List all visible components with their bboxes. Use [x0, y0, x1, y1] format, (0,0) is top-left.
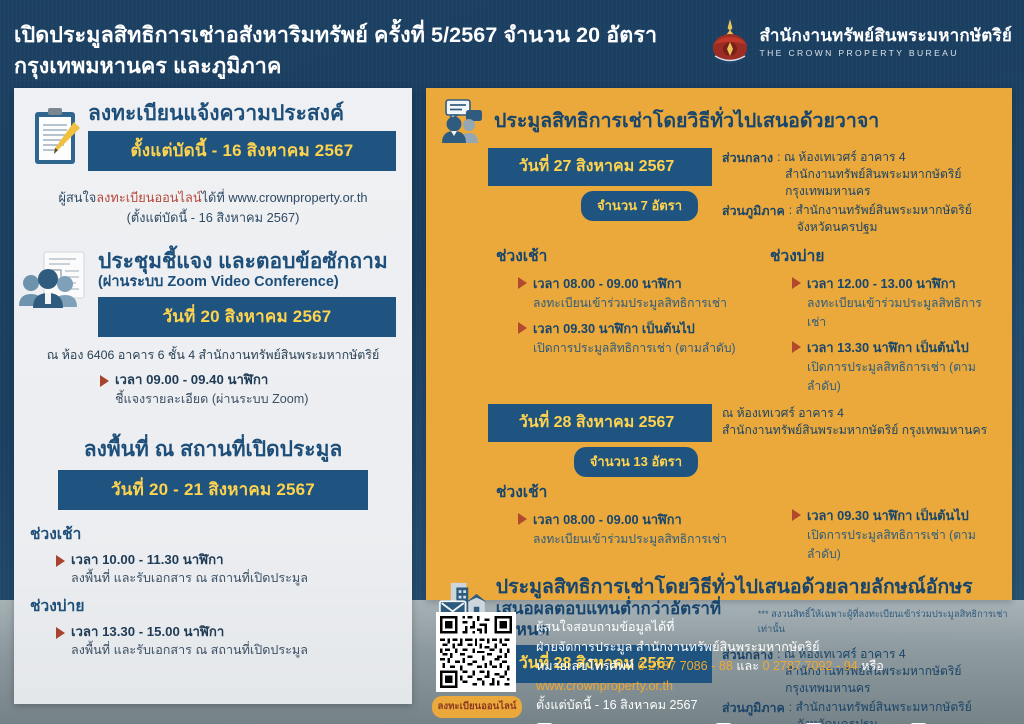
verbal-day1-times: ช่วงเช้า เวลา 08.00 - 09.00 นาฬิกา ลงทะเ…	[426, 243, 1012, 396]
verbal-day2-morning-time-1: เวลา 08.00 - 09.00 นาฬิกา	[533, 509, 727, 530]
verbal-day2-morning-bullet-1: เวลา 08.00 - 09.00 นาฬิกา ลงทะเบียนเข้าร…	[518, 509, 754, 549]
logo-thai-name: สำนักงานทรัพย์สินพระมหากษัตริย์	[760, 26, 1012, 45]
footer-phone-label: หมายเลขโทรศัพท์	[536, 659, 634, 673]
registration-online-period: (ตั้งแต่บัดนี้ - 16 สิงหาคม 2567)	[30, 208, 396, 228]
verbal-day1-afternoon-desc-1: ลงทะเบียนเข้าร่วมประมูลสิทธิการเช่า	[807, 294, 998, 332]
briefing-place: ณ ห้อง 6406 อาคาร 6 ชั้น 4 สำนักงานทรัพย…	[30, 346, 396, 365]
chip-accent-bar	[705, 148, 712, 186]
verbal-day1-region-label: ส่วนภูมิภาค	[722, 202, 785, 236]
verbal-day1-morning-time-1: เวลา 08.00 - 09.00 นาฬิกา	[533, 273, 727, 294]
triangle-bullet-icon	[518, 513, 527, 525]
verbal-day1-region-line2: จังหวัดนครปฐม	[797, 219, 972, 236]
left-schedule-card: ลงทะเบียนแจ้งความประสงค์ ตั้งแต่บัดนี้ -…	[14, 88, 412, 704]
site-visit-morning-bullet: เวลา 10.00 - 11.30 นาฬิกา ลงพื้นที่ และร…	[56, 551, 396, 588]
triangle-bullet-icon	[792, 341, 801, 353]
verbal-day2-times: ช่วงเช้า เวลา 08.00 - 09.00 นาฬิกา ลงทะเ…	[426, 477, 1012, 564]
site-visit-morning-desc: ลงพื้นที่ และรับเอกสาร ณ สถานที่เปิดประม…	[71, 569, 308, 587]
footer-phone-line: หมายเลขโทรศัพท์ 0 2787 7086 - 88 และ 0 2…	[536, 657, 1016, 696]
triangle-bullet-icon	[100, 375, 109, 387]
verbal-day2-right-desc-1: เปิดการประมูลสิทธิการเช่า (ตามลำดับ)	[807, 526, 998, 564]
poster-root: เปิดประมูลสิทธิการเช่าอสังหาริมทรัพย์ คร…	[0, 0, 1024, 724]
footer-line-1: ผู้สนใจสอบถามข้อมูลได้ที่	[536, 618, 1016, 638]
triangle-bullet-icon	[56, 555, 65, 567]
triangle-bullet-icon	[792, 277, 801, 289]
verbal-day1-morning-bullet-2: เวลา 09.30 นาฬิกา เป็นต้นไป เปิดการประมู…	[518, 318, 754, 358]
section-registration: ลงทะเบียนแจ้งความประสงค์ ตั้งแต่บัดนี้ -…	[14, 88, 412, 228]
verbal-day2-date-chip: วันที่ 28 สิงหาคม 2567	[488, 404, 705, 442]
organization-logo: สำนักงานทรัพย์สินพระมหากษัตริย์ THE CROW…	[709, 18, 1012, 66]
footer-line-4: ตั้งแต่บัดนี้ - 16 สิงหาคม 2567	[536, 696, 1016, 716]
footer-phone-2: 0 2787 7092 - 94	[762, 659, 857, 673]
verbal-day1-morning-bullet-1: เวลา 08.00 - 09.00 นาฬิกา ลงทะเบียนเข้าร…	[518, 273, 754, 313]
section-briefing: ประชุมชี้แจง และตอบข้อซักถาม (ผ่านระบบ Z…	[14, 228, 412, 409]
page-title: เปิดประมูลสิทธิการเช่าอสังหาริมทรัพย์ คร…	[14, 20, 714, 81]
briefing-date-chip: วันที่ 20 สิงหาคม 2567	[98, 297, 396, 337]
verbal-day2-location: ณ ห้องเทเวศร์ อาคาร 4 สำนักงานทรัพย์สินพ…	[712, 404, 1012, 477]
block-verbal-auction-header: ประมูลสิทธิการเช่าโดยวิธีทั่วไปเสนอด้วยว…	[426, 88, 1012, 144]
note-suffix: ได้ที่ www.crownproperty.or.th	[202, 190, 368, 205]
footer-line-2: ฝ่ายจัดการประมูล สำนักงานทรัพย์สินพระมหา…	[536, 638, 1016, 658]
verbal-day2-morning-desc-1: ลงทะเบียนเข้าร่วมประมูลสิทธิการเช่า	[533, 530, 727, 549]
triangle-bullet-icon	[792, 509, 801, 521]
section-briefing-subtitle: (ผ่านระบบ Zoom Video Conference)	[98, 274, 396, 291]
chip-accent-bar	[705, 404, 712, 442]
site-visit-afternoon-bullet: เวลา 13.30 - 15.00 นาฬิกา ลงพื้นที่ และร…	[56, 623, 396, 660]
verbal-day1-morning-time-2: เวลา 09.30 นาฬิกา เป็นต้นไป	[533, 318, 736, 339]
block-written-auction-title: ประมูลสิทธิการเช่าโดยวิธีทั่วไปเสนอด้วยล…	[496, 576, 1012, 599]
note-highlight: ลงทะเบียนออนไลน์	[96, 190, 201, 205]
right-auction-panel: ประมูลสิทธิการเช่าโดยวิธีทั่วไปเสนอด้วยว…	[426, 88, 1012, 600]
site-visit-morning-label: ช่วงเช้า	[30, 521, 396, 546]
speech-people-icon	[438, 98, 484, 144]
site-visit-afternoon-time: เวลา 13.30 - 15.00 นาฬิกา	[71, 623, 308, 641]
verbal-day1-afternoon-time-1: เวลา 12.00 - 13.00 นาฬิกา	[807, 273, 998, 294]
logo-english-name: THE CROWN PROPERTY BUREAU	[760, 48, 1012, 58]
triangle-bullet-icon	[56, 627, 65, 639]
verbal-day1-morning-desc-2: เปิดการประมูลสิทธิการเช่า (ตามลำดับ)	[533, 339, 736, 358]
block-verbal-auction-title: ประมูลสิทธิการเช่าโดยวิธีทั่วไปเสนอด้วยว…	[494, 110, 879, 133]
section-site-visit-title: ลงพื้นที่ ณ สถานที่เปิดประมูล	[30, 438, 396, 462]
verbal-day1-morning-desc-1: ลงทะเบียนเข้าร่วมประมูลสิทธิการเช่า	[533, 294, 727, 313]
verbal-day1: วันที่ 27 สิงหาคม 2567 จำนวน 7 อัตรา ส่ว…	[426, 148, 1012, 236]
site-visit-afternoon-label: ช่วงบ่าย	[30, 593, 396, 618]
verbal-day1-afternoon-time-2: เวลา 13.30 นาฬิกา เป็นต้นไป	[807, 337, 998, 358]
verbal-day2-morning-label: ช่วงเช้า	[496, 479, 754, 504]
verbal-day1-afternoon-bullet-2: เวลา 13.30 นาฬิกา เป็นต้นไป เปิดการประมู…	[792, 337, 998, 396]
clipboard-pencil-icon	[30, 106, 82, 168]
verbal-day1-count-pill: จำนวน 7 อัตรา	[581, 191, 698, 221]
poster-header: เปิดประมูลสิทธิการเช่าอสังหาริมทรัพย์ คร…	[0, 0, 1024, 86]
footer-contact-block: ผู้สนใจสอบถามข้อมูลได้ที่ ฝ่ายจัดการประม…	[536, 618, 1016, 724]
poster-footer: ลงทะเบียนออนไลน์ ผู้สนใจสอบถามข้อมูลได้ท…	[426, 604, 1024, 722]
page-title-line1: เปิดประมูลสิทธิการเช่าอสังหาริมทรัพย์ คร…	[14, 23, 657, 47]
triangle-bullet-icon	[518, 322, 527, 334]
qr-code-image	[440, 616, 512, 688]
footer-phone-1: 0 2787 7086 - 88	[638, 659, 733, 673]
briefing-bullet-desc: ชี้แจงรายละเอียด (ผ่านระบบ Zoom)	[115, 390, 308, 408]
verbal-day1-morning-label: ช่วงเช้า	[496, 243, 754, 268]
briefing-bullet-time: เวลา 09.00 - 09.40 นาฬิกา	[115, 371, 308, 389]
verbal-day1-afternoon-label: ช่วงบ่าย	[770, 243, 998, 268]
site-visit-afternoon-desc: ลงพื้นที่ และรับเอกสาร ณ สถานที่เปิดประม…	[71, 641, 308, 659]
verbal-day2-loc-line2: สำนักงานทรัพย์สินพระมหากษัตริย์ กรุงเทพม…	[722, 422, 1012, 439]
people-presentation-icon	[18, 250, 92, 312]
block-verbal-auction: ประมูลสิทธิการเช่าโดยวิธีทั่วไปเสนอด้วยว…	[426, 88, 1012, 564]
section-registration-header: ลงทะเบียนแจ้งความประสงค์ ตั้งแต่บัดนี้ -…	[30, 102, 396, 171]
page-title-line2: กรุงเทพมหานคร และภูมิภาค	[14, 51, 714, 82]
site-visit-morning-time: เวลา 10.00 - 11.30 นาฬิกา	[71, 551, 308, 569]
section-registration-title: ลงทะเบียนแจ้งความประสงค์	[88, 102, 396, 126]
verbal-day1-locations: ส่วนกลาง : ณ ห้องเทเวศร์ อาคาร 4 สำนักงา…	[712, 148, 1012, 236]
verbal-day2-count-pill: จำนวน 13 อัตรา	[574, 447, 698, 477]
footer-website-link[interactable]: www.crownproperty.or.th	[536, 679, 673, 693]
qr-caption: ลงทะเบียนออนไลน์	[432, 696, 522, 718]
verbal-day1-central-label: ส่วนกลาง	[722, 149, 773, 201]
verbal-day2-right-time-1: เวลา 09.30 นาฬิกา เป็นต้นไป	[807, 505, 998, 526]
triangle-bullet-icon	[518, 277, 527, 289]
registration-online-note: ผู้สนใจลงทะเบียนออนไลน์ได้ที่ www.crownp…	[30, 188, 396, 208]
verbal-day1-afternoon-desc-2: เปิดการประมูลสิทธิการเช่า (ตามลำดับ)	[807, 358, 998, 396]
footer-phone-and: และ	[736, 659, 759, 673]
section-site-visit: ลงพื้นที่ ณ สถานที่เปิดประมูล วันที่ 20 …	[14, 408, 412, 659]
qr-code[interactable]	[436, 612, 516, 692]
crown-emblem-icon	[709, 18, 751, 66]
verbal-day1-central-line2: สำนักงานทรัพย์สินพระมหากษัตริย์ กรุงเทพม…	[785, 166, 1012, 200]
verbal-day2: วันที่ 28 สิงหาคม 2567 จำนวน 13 อัตรา ณ …	[426, 404, 1012, 477]
footer-phone-or: หรือ	[861, 659, 884, 673]
section-briefing-title: ประชุมชี้แจง และตอบข้อซักถาม	[98, 250, 396, 274]
verbal-day1-date-chip: วันที่ 27 สิงหาคม 2567	[488, 148, 705, 186]
briefing-bullet: เวลา 09.00 - 09.40 นาฬิกา ชี้แจงรายละเอี…	[100, 371, 396, 408]
verbal-day1-afternoon-bullet-1: เวลา 12.00 - 13.00 นาฬิกา ลงทะเบียนเข้าร…	[792, 273, 998, 332]
logo-text: สำนักงานทรัพย์สินพระมหากษัตริย์ THE CROW…	[760, 26, 1012, 57]
verbal-day1-central-line1: : ณ ห้องเทเวศร์ อาคาร 4	[777, 149, 1012, 166]
verbal-day2-loc-line1: ณ ห้องเทเวศร์ อาคาร 4	[722, 405, 1012, 422]
section-briefing-header: ประชุมชี้แจง และตอบข้อซักถาม (ผ่านระบบ Z…	[18, 250, 396, 338]
verbal-day1-region-line1: : สำนักงานทรัพย์สินพระมหากษัตริย์	[789, 202, 972, 219]
registration-date-chip: ตั้งแต่บัดนี้ - 16 สิงหาคม 2567	[88, 131, 396, 171]
site-visit-date-chip: วันที่ 20 - 21 สิงหาคม 2567	[58, 470, 368, 510]
verbal-day2-right-bullet-1: เวลา 09.30 นาฬิกา เป็นต้นไป เปิดการประมู…	[792, 505, 998, 564]
note-prefix: ผู้สนใจ	[58, 190, 96, 205]
